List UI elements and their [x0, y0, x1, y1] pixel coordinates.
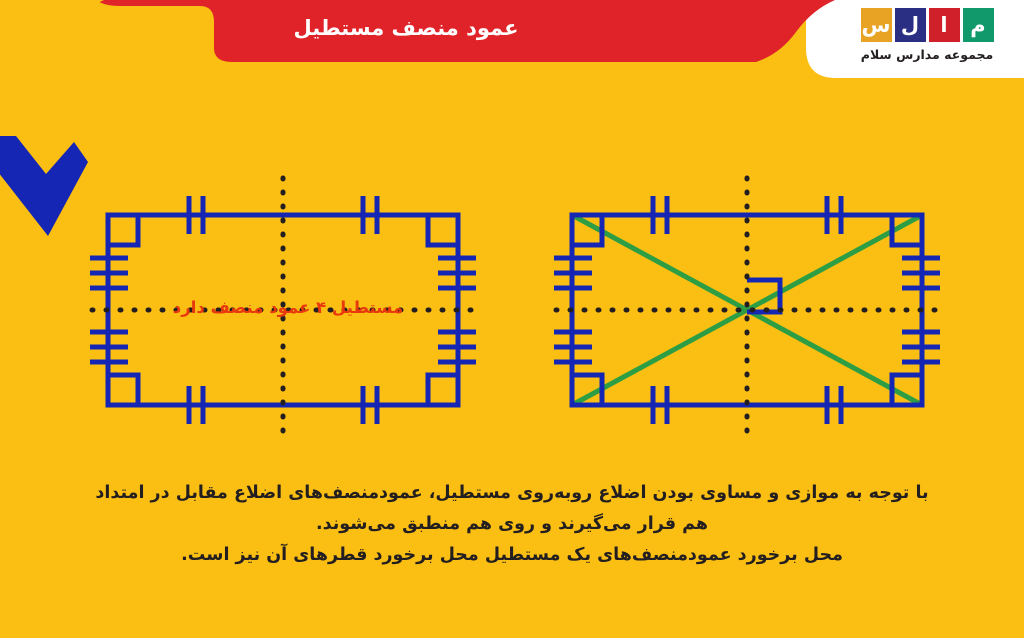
explanation-line-1: با توجه به موازی و مساوی بودن اضلاع روبه…	[0, 478, 1024, 509]
corner-mark-bottom-left	[108, 375, 138, 405]
logo-square-lam: ل	[895, 8, 926, 42]
brand-logo: م ا ل س مجموعه مدارس سلام	[852, 8, 1002, 62]
logo-caption: مجموعه مدارس سلام	[852, 47, 1002, 62]
logo-square-sin: س	[861, 8, 892, 42]
figures-area: مستطیل ۴ عمود منصف دارد	[0, 170, 1024, 450]
explanation-line-3: محل برخورد عمودمنصف‌های یک مستطیل محل بر…	[0, 540, 1024, 571]
rectangle-with-bisectors-and-diagonals	[552, 170, 952, 450]
explanation-paragraph: با توجه به موازی و مساوی بودن اضلاع روبه…	[0, 478, 1024, 571]
explanation-line-2: هم قرار می‌گیرند و روی هم منطبق می‌شوند.	[0, 509, 1024, 540]
corner-mark-top-right	[428, 215, 458, 245]
logo-square-alef: ا	[929, 8, 960, 42]
corner-mark-bottom-right	[428, 375, 458, 405]
left-figure-caption: مستطیل ۴ عمود منصف دارد	[88, 298, 488, 317]
page-title: عمود منصف مستطیل	[0, 16, 812, 40]
corner-mark-top-left	[108, 215, 138, 245]
logo-square-mim: م	[963, 8, 994, 42]
logo-letter-squares: م ا ل س	[852, 8, 1002, 42]
